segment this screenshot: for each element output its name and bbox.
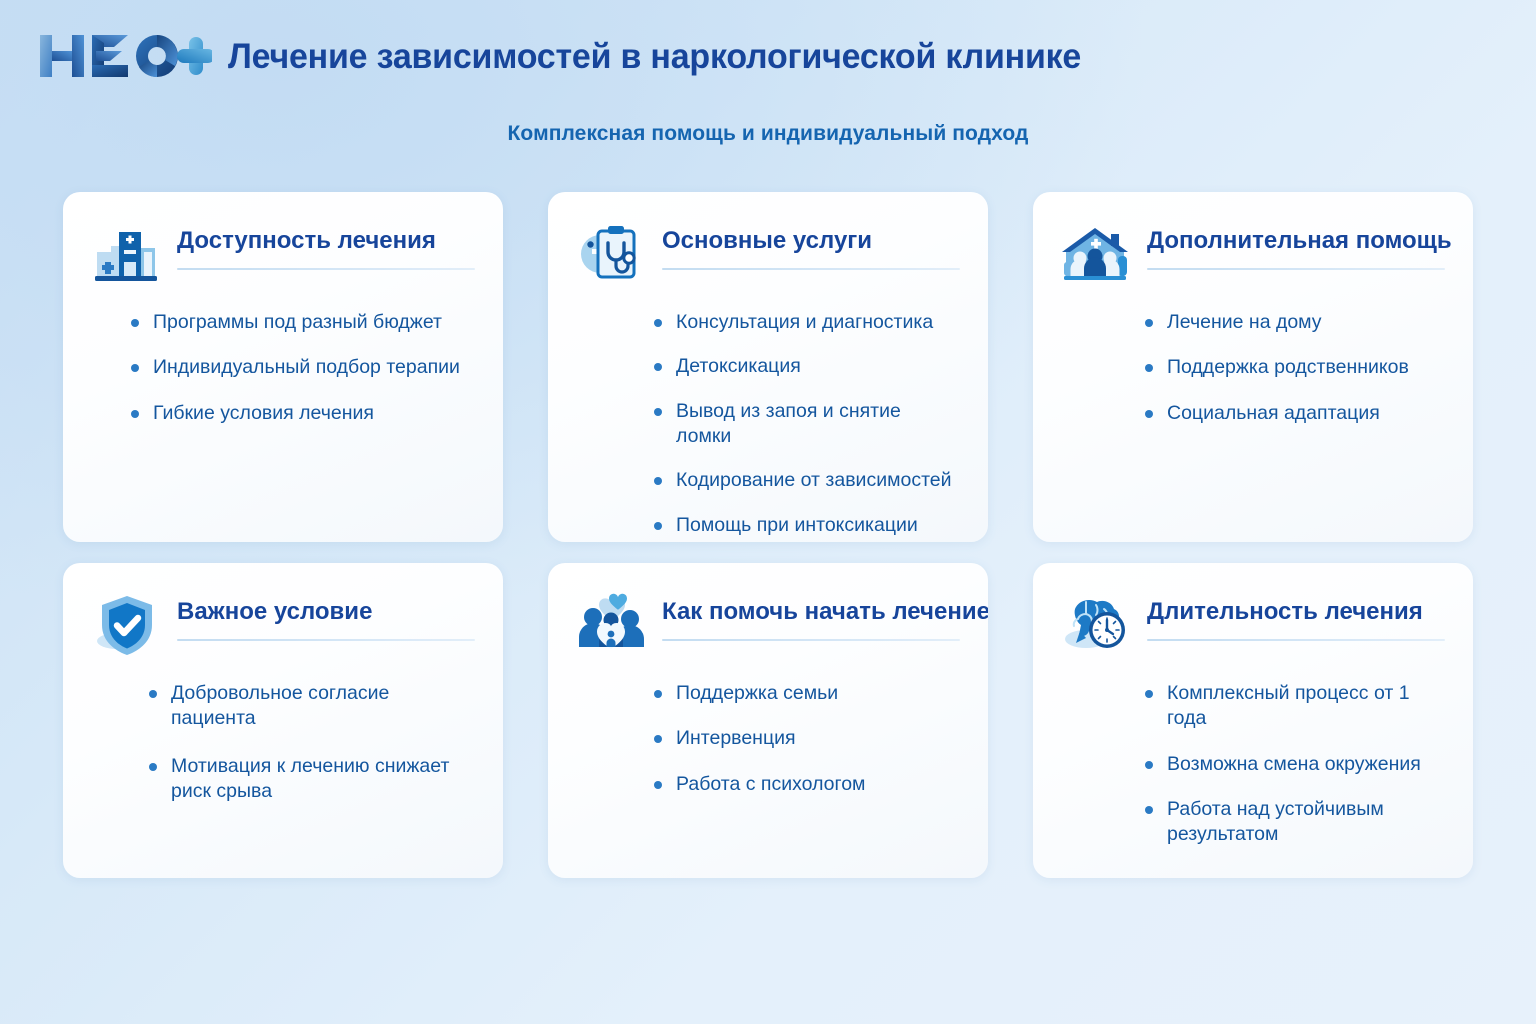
title-divider xyxy=(662,639,960,641)
card-header: Доступность лечения xyxy=(91,218,475,292)
page-title: Лечение зависимостей в наркологической к… xyxy=(228,39,1081,74)
hospital-building-icon xyxy=(91,218,163,290)
card-treatment-duration[interactable]: Длительность лечения Комплексный процесс… xyxy=(1033,563,1473,878)
card-services[interactable]: Основные услуги Консультация и диагности… xyxy=(548,192,988,542)
neo-plus-logo xyxy=(36,24,212,88)
page-header: Лечение зависимостей в наркологической к… xyxy=(0,0,1536,112)
card-title-col: Как помочь начать лечение xyxy=(662,589,960,641)
card-important-condition[interactable]: Важное условие Добровольное согласие пац… xyxy=(63,563,503,878)
card-extra-help[interactable]: Дополнительная помощь Лечение на дому По… xyxy=(1033,192,1473,542)
cards-grid: Доступность лечения Программы под разный… xyxy=(63,192,1473,878)
list-item: Лечение на дому xyxy=(1145,310,1445,335)
card-title: Как помочь начать лечение xyxy=(662,599,960,625)
list-item: Помощь при интоксикации xyxy=(654,513,960,538)
card-how-to-help[interactable]: Как помочь начать лечение Поддержка семь… xyxy=(548,563,988,878)
list-item: Работа с психологом xyxy=(654,772,960,797)
title-divider xyxy=(177,639,475,641)
shield-check-icon xyxy=(91,589,163,661)
title-divider xyxy=(662,268,960,270)
bullet-list: Поддержка семьи Интервенция Работа с пси… xyxy=(576,681,960,797)
card-header: Длительность лечения xyxy=(1061,589,1445,663)
card-title: Доступность лечения xyxy=(177,228,475,254)
list-item: Поддержка семьи xyxy=(654,681,960,706)
card-header: Важное условие xyxy=(91,589,475,663)
card-title: Основные услуги xyxy=(662,228,960,254)
list-item: Вывод из запоя и снятие ломки xyxy=(654,399,960,450)
card-access[interactable]: Доступность лечения Программы под разный… xyxy=(63,192,503,542)
card-title-col: Длительность лечения xyxy=(1147,589,1445,641)
card-title: Длительность лечения xyxy=(1147,599,1445,625)
title-divider xyxy=(1147,639,1445,641)
list-item: Поддержка родственников xyxy=(1145,355,1445,380)
card-header: Как помочь начать лечение xyxy=(576,589,960,663)
page-subtitle: Комплексная помощь и индивидуальный подх… xyxy=(508,122,1029,145)
page-subtitle-wrap: Комплексная помощь и индивидуальный подх… xyxy=(0,122,1536,146)
list-item: Работа над устойчивым результатом xyxy=(1145,797,1445,848)
list-item: Кодирование от зависимостей xyxy=(654,468,960,493)
bullet-list: Программы под разный бюджет Индивидуальн… xyxy=(91,310,475,426)
list-item: Возможна смена окружения xyxy=(1145,752,1445,777)
list-item: Интервенция xyxy=(654,726,960,751)
card-title-col: Доступность лечения xyxy=(177,218,475,270)
list-item: Гибкие условия лечения xyxy=(131,401,475,426)
card-title-col: Важное условие xyxy=(177,589,475,641)
clipboard-stethoscope-icon xyxy=(576,218,648,290)
bullet-list: Консультация и диагностика Детоксикация … xyxy=(576,310,960,538)
card-title-col: Дополнительная помощь xyxy=(1147,218,1445,270)
title-divider xyxy=(1147,268,1445,270)
title-divider xyxy=(177,268,475,270)
card-header: Дополнительная помощь xyxy=(1061,218,1445,292)
card-title: Важное условие xyxy=(177,599,475,625)
home-care-icon xyxy=(1061,218,1133,290)
list-item: Социальная адаптация xyxy=(1145,401,1445,426)
list-item: Программы под разный бюджет xyxy=(131,310,475,335)
bullet-list: Лечение на дому Поддержка родственников … xyxy=(1061,310,1445,426)
list-item: Детоксикация xyxy=(654,354,960,379)
family-heart-icon xyxy=(576,589,648,661)
list-item: Консультация и диагностика xyxy=(654,310,960,335)
bullet-list: Добровольное согласие пациента Мотивация… xyxy=(91,681,475,804)
list-item: Комплексный процесс от 1 года xyxy=(1145,681,1445,732)
bullet-list: Комплексный процесс от 1 года Возможна с… xyxy=(1061,681,1445,848)
card-title: Дополнительная помощь xyxy=(1147,228,1445,254)
brain-clock-icon xyxy=(1061,589,1133,661)
list-item: Добровольное согласие пациента xyxy=(149,681,475,732)
card-title-col: Основные услуги xyxy=(662,218,960,270)
infographic-page: Лечение зависимостей в наркологической к… xyxy=(0,0,1536,1024)
list-item: Мотивация к лечению снижает риск срыва xyxy=(149,754,475,805)
list-item: Индивидуальный подбор терапии xyxy=(131,355,475,380)
card-header: Основные услуги xyxy=(576,218,960,292)
